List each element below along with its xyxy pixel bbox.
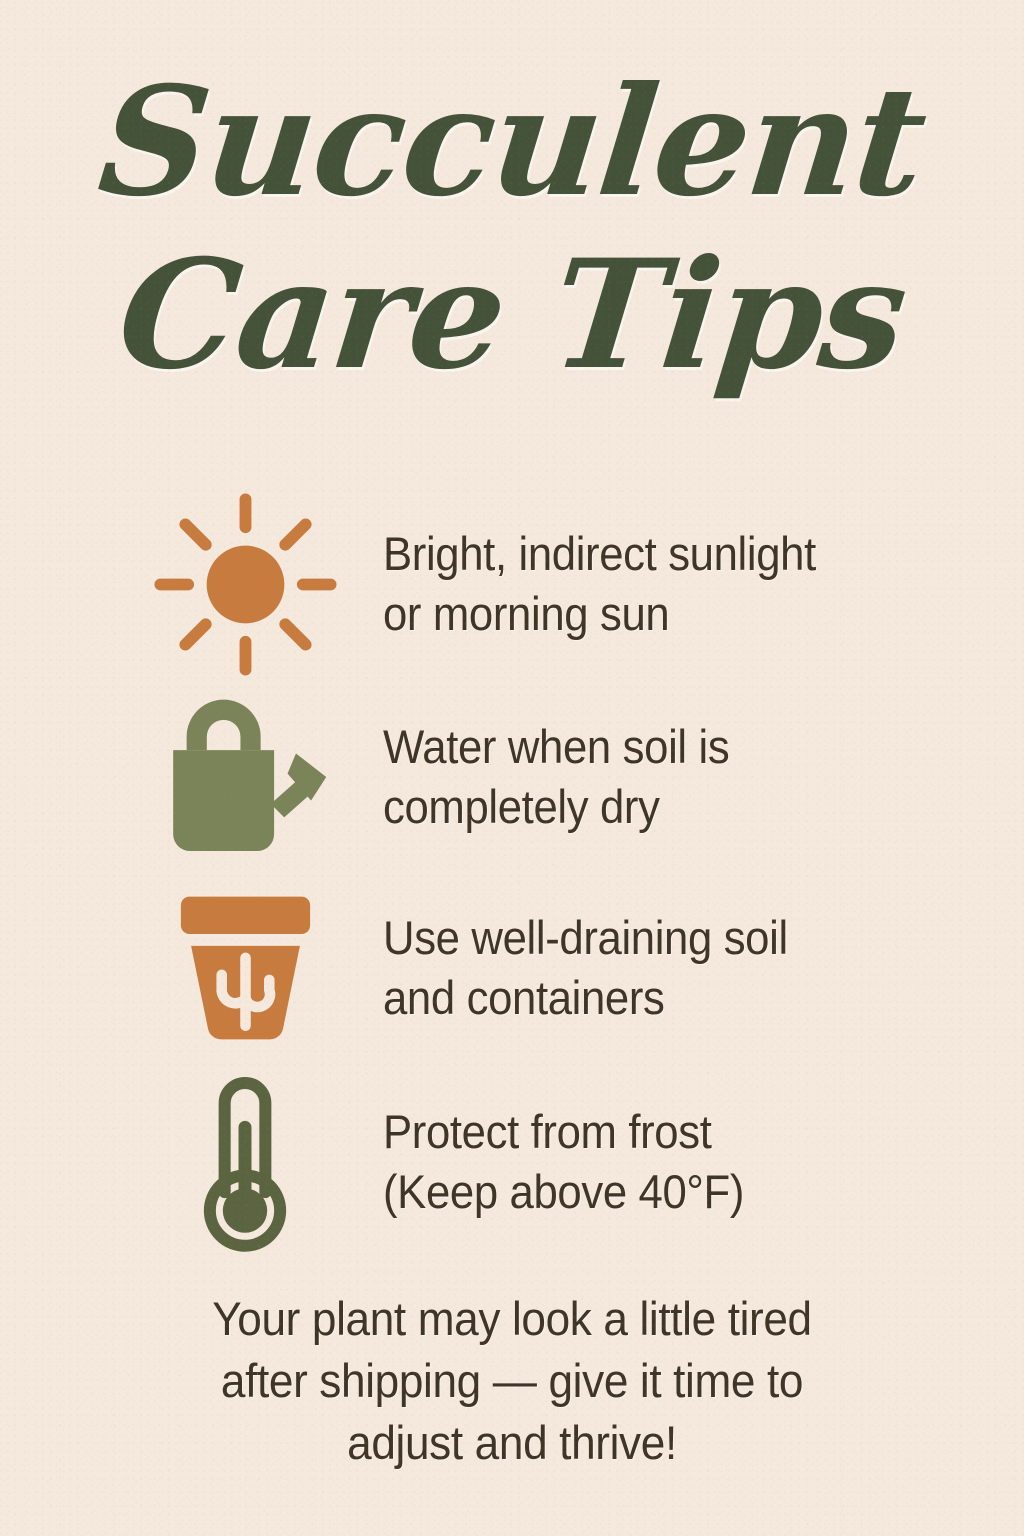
sun-icon [145,494,345,674]
watering-can-icon [145,687,345,867]
tip-line-2: (Keep above 40°F) [383,1162,744,1222]
footer-line-3: adjust and thrive! [31,1412,994,1474]
tip-line-2: completely dry [383,777,729,837]
tip-text-sunlight: Bright, indirect sunlight or morning sun [383,524,816,644]
footer-line-1: Your plant may look a little tired [31,1288,994,1350]
tip-text-frost: Protect from frost (Keep above 40°F) [383,1102,744,1222]
tip-row-frost: Protect from frost (Keep above 40°F) [0,1064,1024,1260]
tip-line-1: Bright, indirect sunlight [383,524,816,584]
tip-line-2: or morning sun [383,584,816,644]
tip-line-2: and containers [383,968,788,1028]
tip-row-watering: Water when soil is completely dry [0,682,1024,872]
tip-line-1: Water when soil is [383,717,729,777]
title-line-care-tips: Care Tips [0,236,1024,394]
tip-row-soil: Use well-draining soil and containers [0,872,1024,1064]
care-tips-list: Bright, indirect sunlight or morning sun [0,486,1024,1260]
footer-line-2: after shipping — give it time to [31,1350,994,1412]
plant-pot-cactus-icon [145,878,345,1058]
thermometer-icon [145,1072,345,1252]
tip-line-1: Protect from frost [383,1102,744,1162]
succulent-care-tips-poster: Succulent Care Tips [0,0,1024,1536]
tip-text-watering: Water when soil is completely dry [383,717,729,837]
footer-note: Your plant may look a little tired after… [0,1288,1024,1474]
tip-text-soil: Use well-draining soil and containers [383,908,788,1028]
tip-row-sunlight: Bright, indirect sunlight or morning sun [0,486,1024,682]
title-line-succulent: Succulent [0,62,1024,222]
tip-line-1: Use well-draining soil [383,908,788,968]
page-title: Succulent Care Tips [0,62,1024,394]
